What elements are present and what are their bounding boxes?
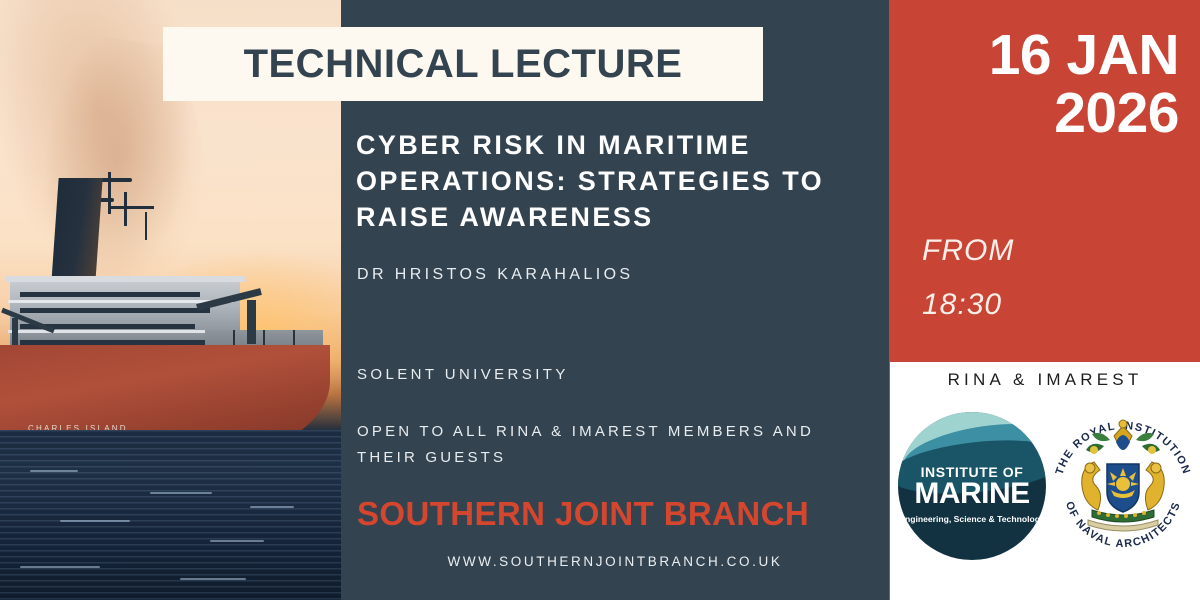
water-sparkle — [30, 470, 78, 472]
mast-pole-b — [124, 192, 127, 226]
mast-crossbar — [108, 206, 154, 209]
deck-crane-post — [247, 300, 256, 344]
rina-logo: THE ROYAL INSTITUTION OF NAVAL ARCHITECT… — [1044, 406, 1200, 564]
flag-pole — [145, 212, 147, 240]
water-sparkle — [150, 492, 212, 494]
water-sparkle — [20, 566, 100, 568]
imarest-logo: INSTITUTE OF MARINE Engineering, Science… — [898, 412, 1046, 560]
deck-window-row-2 — [20, 308, 210, 313]
rina-crest-svg: THE ROYAL INSTITUTION OF NAVAL ARCHITECT… — [1044, 406, 1200, 564]
imarest-line-3: Engineering, Science & Technology — [898, 514, 1046, 524]
deck-rail-lower — [8, 330, 236, 333]
water-sparkle — [60, 520, 130, 522]
event-type-badge: TECHNICAL LECTURE — [163, 27, 763, 101]
lecture-title: CYBER RISK IN MARITIME OPERATIONS: STRAT… — [356, 128, 866, 236]
event-date-day: 16 JAN — [989, 23, 1179, 87]
event-type-label: TECHNICAL LECTURE — [244, 42, 683, 87]
sea-water — [0, 430, 341, 600]
deck-window-row-1 — [20, 292, 200, 297]
branch-name: SOUTHERN JOINT BRANCH — [357, 495, 809, 533]
audience-note: OPEN TO ALL RINA & IMAREST MEMBERS AND T… — [357, 419, 857, 472]
event-date-year: 2026 — [1054, 81, 1179, 145]
imarest-line-2: MARINE — [898, 479, 1046, 509]
ship-funnel — [51, 178, 102, 283]
water-sparkle — [210, 540, 264, 542]
start-time-value: 18:30 — [922, 288, 1002, 322]
venue-name: SOLENT UNIVERSITY — [357, 366, 569, 383]
event-date: 16 JAN2026 — [889, 26, 1179, 142]
water-sparkle — [180, 578, 246, 580]
speaker-name: DR HRISTOS KARAHALIOS — [357, 266, 634, 284]
event-banner: CHARLES ISLAND NASSAU BAHAMAS TECHNICAL … — [0, 0, 1200, 600]
water-sparkle — [250, 506, 294, 508]
bridge-wing — [5, 276, 245, 282]
organisations-heading: RINA & IMAREST — [890, 370, 1200, 390]
start-time-label: FROM — [922, 234, 1014, 268]
website-url[interactable]: WWW.SOUTHERNJOINTBRANCH.CO.UK — [341, 554, 889, 569]
